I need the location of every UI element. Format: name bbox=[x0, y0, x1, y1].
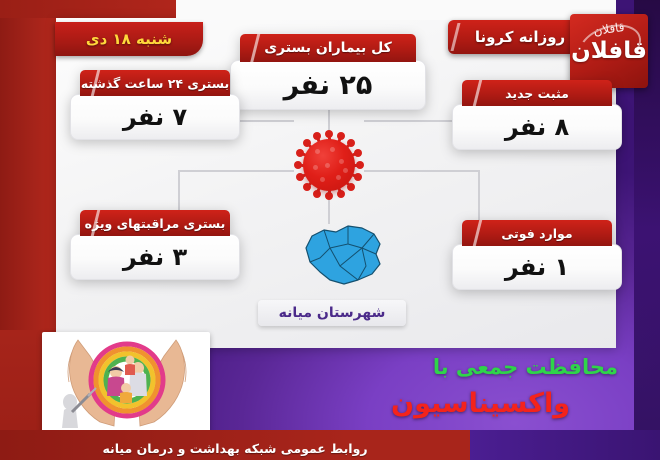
coronavirus-icon bbox=[292, 128, 366, 202]
date-badge: شنبه ۱۸ دی bbox=[55, 22, 203, 56]
stat-new-positive-label: مثبت جدید bbox=[462, 80, 612, 106]
stat-icu: بستری مراقبتهای ویژه ۳ نفر bbox=[70, 210, 240, 280]
virus-spike-knob bbox=[356, 161, 364, 169]
virus-spike-knob bbox=[347, 183, 355, 191]
virus-spike-knob bbox=[337, 190, 345, 198]
county-map-icon bbox=[300, 218, 386, 290]
connector-left-bottom-horizontal bbox=[178, 170, 294, 172]
stat-icu-label: بستری مراقبتهای ویژه bbox=[80, 210, 230, 236]
stat-hospitalized-24h-value: ۷ نفر bbox=[70, 94, 240, 140]
hands-family-vaccine-illustration bbox=[42, 332, 210, 434]
stat-total-hospitalized-label: کل بیماران بستری bbox=[240, 34, 416, 62]
map-caption: شهرستان میانه bbox=[258, 300, 406, 326]
footer-purple-band bbox=[470, 430, 660, 460]
stat-total-hospitalized: کل بیماران بستری ۲۵ نفر bbox=[230, 34, 426, 110]
stat-deaths: موارد فوتی ۱ نفر bbox=[452, 220, 622, 290]
logo-label: قافلان bbox=[570, 38, 648, 64]
connector-right-bottom-horizontal bbox=[364, 170, 480, 172]
virus-body bbox=[303, 139, 355, 191]
virus-spike-knob bbox=[354, 173, 362, 181]
stat-deaths-label: موارد فوتی bbox=[462, 220, 612, 246]
virus-spike-knob bbox=[354, 149, 362, 157]
stat-hospitalized-24h-label: بستری ۲۴ ساعت گذشته bbox=[80, 70, 230, 96]
stat-deaths-value: ۱ نفر bbox=[452, 244, 622, 290]
stat-new-positive: مثبت جدید ۸ نفر bbox=[452, 80, 622, 150]
virus-spike-knob bbox=[294, 161, 302, 169]
virus-spike-knob bbox=[303, 183, 311, 191]
infographic-canvas: شنبه ۱۸ دی روزانه کرونا قافلان قافلان کل… bbox=[0, 0, 660, 460]
virus-spike-knob bbox=[337, 132, 345, 140]
stat-hospitalized-24h: بستری ۲۴ ساعت گذشته ۷ نفر bbox=[70, 70, 240, 140]
footer-credit: روابط عمومی شبکه بهداشت و درمان میانه bbox=[0, 441, 470, 456]
stat-total-hospitalized-value: ۲۵ نفر bbox=[230, 60, 426, 110]
stat-new-positive-value: ۸ نفر bbox=[452, 104, 622, 150]
slogan-line-1: محافظت جمعی با bbox=[433, 355, 618, 379]
stat-icu-value: ۳ نفر bbox=[70, 234, 240, 280]
virus-spike-knob bbox=[313, 190, 321, 198]
virus-spike-knob bbox=[296, 173, 304, 181]
brand-logo[interactable]: قافلان قافلان bbox=[570, 14, 648, 88]
slogan-line-2: واکسیناسیون bbox=[391, 388, 570, 419]
virus-spike-knob bbox=[325, 130, 333, 138]
virus-spike-knob bbox=[325, 192, 333, 200]
white-panel-notch bbox=[176, 0, 616, 20]
virus-spike-knob bbox=[347, 139, 355, 147]
